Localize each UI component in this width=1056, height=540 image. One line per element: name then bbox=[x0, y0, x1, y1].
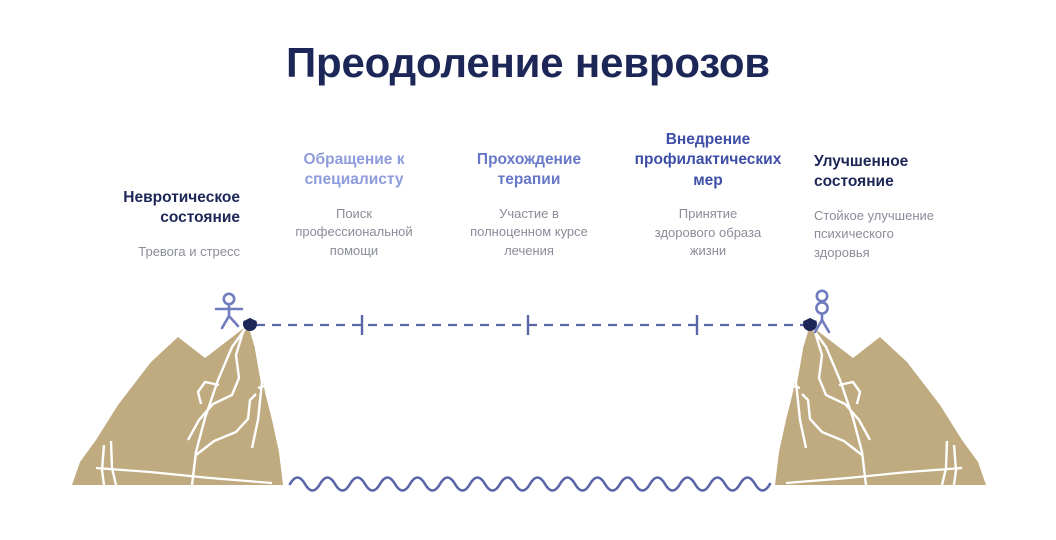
right-mountain-icon bbox=[775, 325, 986, 485]
illustration-scene bbox=[0, 0, 1056, 540]
left-mountain-icon bbox=[72, 325, 283, 485]
walking-person-icon bbox=[216, 294, 242, 328]
infographic-canvas: Преодоление неврозов Невротическое состо… bbox=[0, 0, 1056, 540]
wave-line bbox=[290, 478, 770, 491]
dashed-journey-line bbox=[243, 315, 817, 335]
standing-person-icon bbox=[815, 291, 829, 332]
